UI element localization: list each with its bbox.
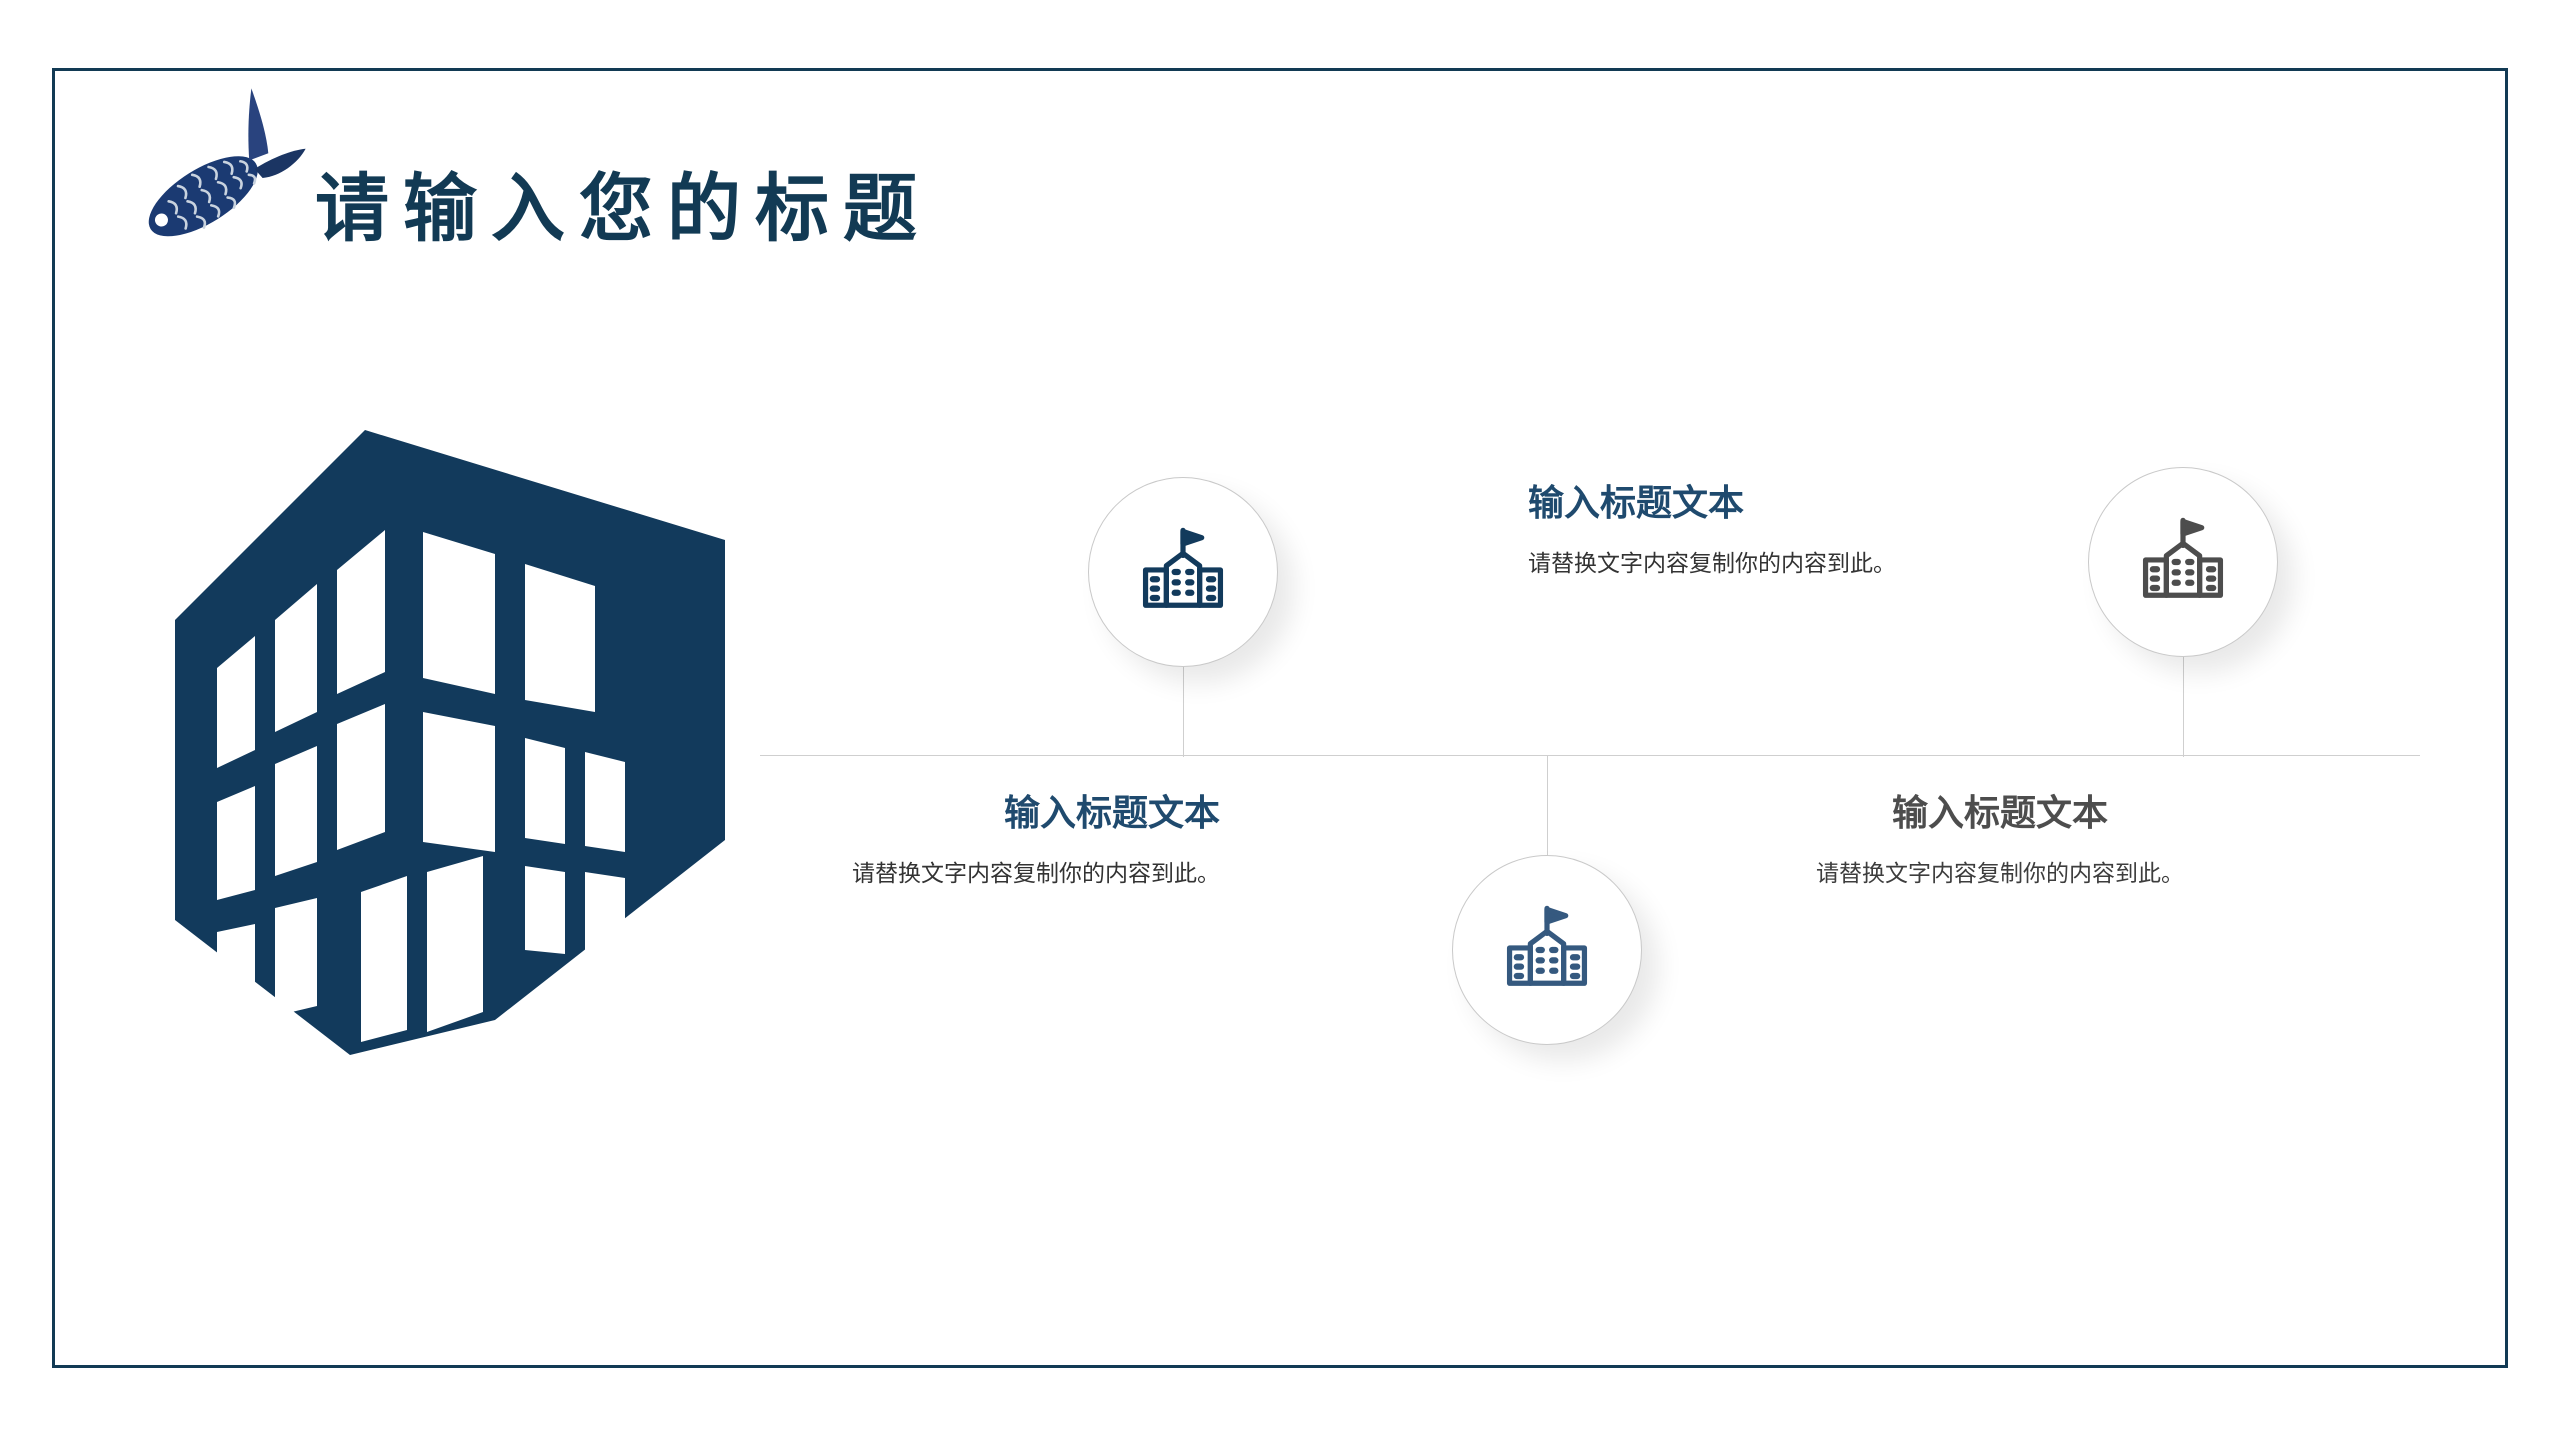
school-building-flag-icon <box>1495 898 1599 1002</box>
slide-canvas: 请输入您的标题 <box>0 0 2560 1440</box>
timeline <box>0 0 2560 1440</box>
block-right-title: 输入标题文本 <box>1730 790 2270 835</box>
content-block-right: 输入标题文本 请替换文字内容复制你的内容到此。 <box>1730 790 2270 893</box>
timeline-axis-line <box>760 755 2420 756</box>
block-left-title: 输入标题文本 <box>760 790 1220 835</box>
school-building-flag-icon <box>2131 510 2235 614</box>
school-building-flag-icon <box>1131 520 1235 624</box>
block-right-body: 请替换文字内容复制你的内容到此。 <box>1730 855 2270 893</box>
timeline-connector-2 <box>1547 756 1548 856</box>
timeline-connector-3 <box>2183 657 2184 757</box>
block-left-body: 请替换文字内容复制你的内容到此。 <box>760 855 1220 893</box>
content-block-left: 输入标题文本 请替换文字内容复制你的内容到此。 <box>760 790 1220 893</box>
timeline-connector-1 <box>1183 667 1184 757</box>
timeline-node-3[interactable] <box>2088 467 2278 657</box>
block-middle-body: 请替换文字内容复制你的内容到此。 <box>1528 545 1948 583</box>
block-middle-title: 输入标题文本 <box>1528 480 1948 525</box>
timeline-node-2[interactable] <box>1452 855 1642 1045</box>
timeline-node-1[interactable] <box>1088 477 1278 667</box>
content-block-middle: 输入标题文本 请替换文字内容复制你的内容到此。 <box>1528 480 1948 583</box>
